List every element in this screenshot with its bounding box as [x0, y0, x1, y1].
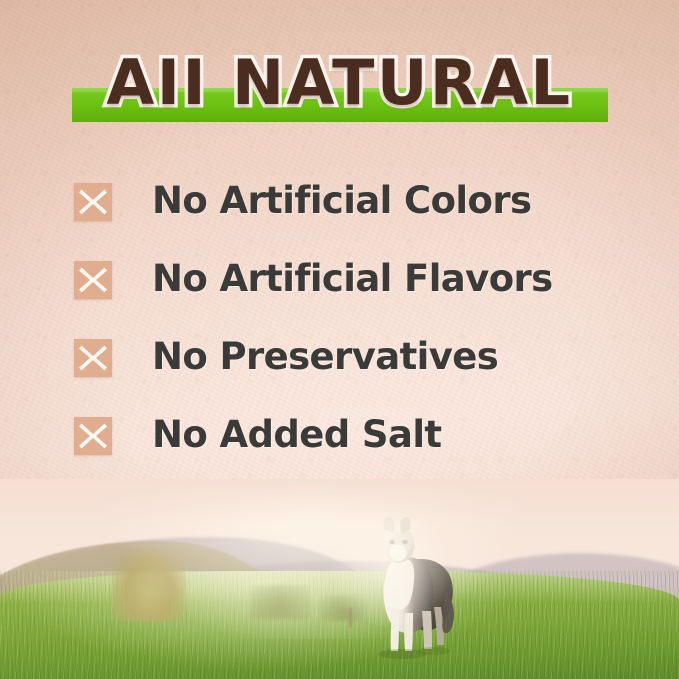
- dog-photo: [358, 513, 464, 663]
- photo-bush-small: [250, 585, 310, 619]
- x-mark-icon: [74, 261, 112, 299]
- product-feature-poster: AII NATURAL No Artificial Colors No Arti…: [0, 0, 679, 679]
- claim-label: No Preservatives: [152, 334, 498, 380]
- claim-row: No Artificial Colors: [74, 178, 634, 256]
- x-mark-icon: [74, 339, 112, 377]
- photo-fence-post: [349, 607, 352, 627]
- photo-bush-large: [112, 549, 186, 621]
- claim-row: No Artificial Flavors: [74, 256, 634, 334]
- photo-grass-sunlight: [0, 571, 679, 679]
- x-mark-icon: [74, 417, 112, 455]
- claim-row: No Preservatives: [74, 334, 634, 412]
- x-mark-icon: [74, 183, 112, 221]
- claim-label: No Artificial Colors: [152, 178, 531, 224]
- claims-list: No Artificial Colors No Artificial Flavo…: [74, 178, 634, 490]
- banner-title: AII NATURAL: [0, 46, 679, 120]
- banner: AII NATURAL: [0, 46, 679, 138]
- claim-label: No Artificial Flavors: [152, 256, 553, 302]
- landscape-photo: [0, 479, 679, 679]
- claim-label: No Added Salt: [152, 412, 442, 458]
